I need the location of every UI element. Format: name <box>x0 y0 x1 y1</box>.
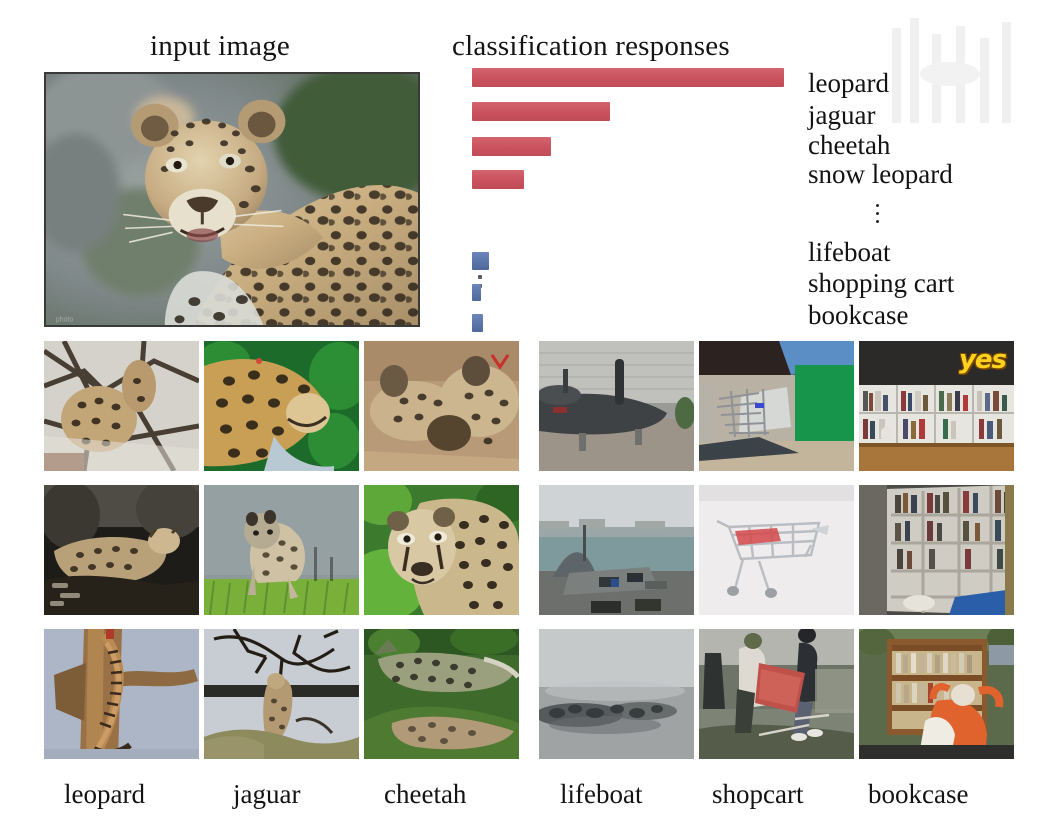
bar-leopard <box>472 68 784 87</box>
grid-cell-lifeboat-r3 <box>539 629 694 759</box>
grid-cell-cheetah-r1 <box>364 341 519 471</box>
classification-responses-bar-chart <box>472 66 802 326</box>
column-caption-jaguar: jaguar <box>233 779 300 810</box>
grid-cell-shopcart-r3 <box>699 629 854 759</box>
class-label-leopard: leopard <box>808 70 889 97</box>
bar-jaguar <box>472 102 610 121</box>
grid-cell-jaguar-r3 <box>204 629 359 759</box>
bar-bookcase <box>472 314 483 332</box>
grid-cell-bookcase-r2 <box>859 485 1014 615</box>
grid-cell-leopard-r2 <box>44 485 199 615</box>
class-label-bookcase: bookcase <box>808 302 908 329</box>
class-label-ellipsis <box>876 204 879 228</box>
grid-cell-leopard-r1 <box>44 341 199 471</box>
bar-cheetah <box>472 137 551 156</box>
class-label-jaguar: jaguar <box>808 102 875 129</box>
grid-cell-lifeboat-r1 <box>539 341 694 471</box>
grid-cell-shopcart-r2 <box>699 485 854 615</box>
grid-cell-shopcart-r1 <box>699 341 854 471</box>
column-caption-leopard: leopard <box>64 779 145 810</box>
watermark-graphic <box>880 8 1050 128</box>
bar-shopping-cart <box>472 284 481 301</box>
grid-cell-bookcase-r1: yes <box>859 341 1014 471</box>
svg-text:photo: photo <box>56 316 73 323</box>
column-caption-bookcase: bookcase <box>868 779 968 810</box>
column-caption-cheetah: cheetah <box>384 779 466 810</box>
grid-cell-leopard-r3 <box>44 629 199 759</box>
class-label-lifeboat: lifeboat <box>808 239 890 266</box>
grid-cell-cheetah-r3 <box>364 629 519 759</box>
page-title-input-image: input image <box>150 30 290 63</box>
class-label-cheetah: cheetah <box>808 132 890 159</box>
grid-cell-jaguar-r2 <box>204 485 359 615</box>
column-caption-lifeboat: lifeboat <box>560 779 642 810</box>
class-label-shopping-cart: shopping cart <box>808 270 954 297</box>
bar-lifeboat <box>472 252 489 270</box>
class-label-snow-leopard: snow leopard <box>808 161 953 188</box>
grid-cell-cheetah-r2 <box>364 485 519 615</box>
grid-cell-lifeboat-r2 <box>539 485 694 615</box>
yes-overlay-text: yes <box>959 345 1006 375</box>
page-title-classification-responses: classification responses <box>452 30 730 63</box>
bar-snow-leopard <box>472 170 524 189</box>
grid-cell-jaguar-r1 <box>204 341 359 471</box>
grid-cell-bookcase-r3 <box>859 629 1014 759</box>
column-caption-shopcart: shopcart <box>712 779 803 810</box>
input-image-photo: photo <box>44 72 420 327</box>
